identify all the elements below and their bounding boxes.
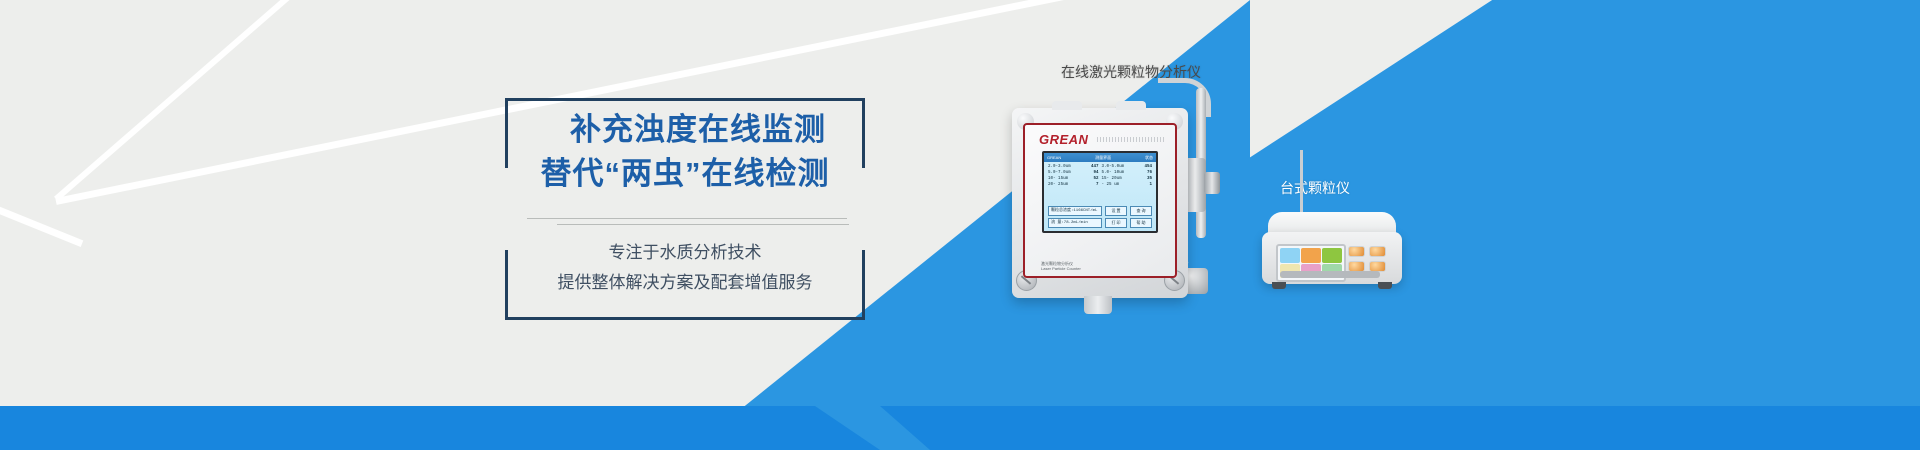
bench-foot-right [1378,282,1392,289]
analyzer-front-panel: GREAN GREAN 测量界面 状态 2.0-3.0um 447 3.0-5.… [1023,123,1177,278]
headline-text: 补充浊度在线监测 替代“两虫”在线检测 [505,108,865,196]
bench-sample-slot [1280,271,1380,278]
table-cell: 454 [1144,165,1152,169]
analyzer-panel-footer: 激光颗粒物分析仪 Laser Particle Counter [1041,261,1081,271]
analyzer-vent-hatch [1097,137,1165,142]
online-laser-particle-analyzer: GREAN GREAN 测量界面 状态 2.0-3.0um 447 3.0-5.… [1012,108,1188,298]
frame-bottom-border [505,317,865,320]
lcd-row-flow: 流 量:78.2mL/min 打 印 帮 助 [1048,218,1152,228]
subtitle-line-2: 提供整体解决方案及配套增值服务 [505,268,865,298]
table-cell: 2.0-3.0um [1048,165,1088,169]
table-cell: 35 [1144,177,1152,181]
headline-line-2: 替代“两虫”在线检测 [505,152,865,196]
bench-tile [1322,248,1342,263]
bench-tile [1280,248,1300,263]
table-cell: 5.0- 10um [1102,171,1142,175]
lcd-title-right: 状态 [1145,155,1153,161]
bench-foot-left [1272,282,1286,289]
table-cell: - 25 um [1102,183,1142,187]
bench-particle-counter [1262,212,1402,294]
lcd-field-flow: 流 量:78.2mL/min [1048,218,1102,228]
bench-keypad[interactable] [1348,246,1386,272]
subtitle-line-1: 专注于水质分析技术 [505,238,865,268]
lcd-button-print[interactable]: 打 印 [1105,218,1127,228]
analyzer-lcd-display[interactable]: GREAN 测量界面 状态 2.0-3.0um 447 3.0-5.0um 45… [1042,151,1158,233]
lcd-button-rows: 颗粒总浓度:1166CNT/mL 设 置 查 询 流 量:78.2mL/min … [1048,206,1152,228]
lcd-particle-table: 2.0-3.0um 447 3.0-5.0um 454 5.0-7.0um 94… [1044,162,1156,187]
lcd-button-query[interactable]: 查 询 [1130,206,1152,216]
headline-card: 补充浊度在线监测 替代“两虫”在线检测 专注于水质分析技术 提供整体解决方案及配… [505,98,865,320]
table-cell: 15- 20um [1102,177,1142,181]
lcd-field-concentration: 颗粒总浓度:1166CNT/mL [1048,206,1102,216]
promo-banner: 补充浊度在线监测 替代“两虫”在线检测 专注于水质分析技术 提供整体解决方案及配… [0,0,1920,450]
bench-tile [1301,248,1321,263]
table-cell: 7 [1091,183,1099,187]
table-cell: 20- 25um [1048,183,1088,187]
bench-body-shell [1262,232,1402,284]
label-bench-analyzer: 台式颗粒仪 [1280,178,1350,198]
table-cell: 5.0-7.0um [1048,171,1088,175]
analyzer-brand-logo: GREAN [1039,132,1088,147]
lcd-row-concentration: 颗粒总浓度:1166CNT/mL 设 置 查 询 [1048,206,1152,216]
subtitle-text: 专注于水质分析技术 提供整体解决方案及配套增值服务 [505,238,865,299]
table-cell: 3.0-5.0um [1102,165,1142,169]
lcd-button-help[interactable]: 帮 助 [1130,218,1152,228]
headline-line-1: 补充浊度在线监测 [505,108,865,152]
frame-top-border [505,98,865,101]
lcd-title-left: GREAN [1047,155,1061,160]
sensor-cap [1204,172,1220,194]
lcd-title-center: 测量界面 [1095,155,1111,161]
table-cell: 76 [1144,171,1152,175]
table-cell: 52 [1091,177,1099,181]
analyzer-top-lug-right [1116,101,1146,110]
bench-key[interactable] [1348,246,1365,257]
table-cell: 94 [1091,171,1099,175]
analyzer-footer-en: Laser Particle Counter [1041,266,1081,271]
lcd-title-bar: GREAN 测量界面 状态 [1044,153,1156,162]
bench-antenna [1300,150,1303,220]
table-cell: 10- 15um [1048,177,1088,181]
table-cell: 1 [1144,183,1152,187]
divider-line-2 [557,224,849,225]
table-cell: 447 [1091,165,1099,169]
analyzer-cable-gland [1084,296,1112,314]
analyzer-top-lug-left [1052,101,1082,110]
divider-group [527,218,847,225]
lcd-button-setup[interactable]: 设 置 [1105,206,1127,216]
divider-line-1 [527,218,847,219]
bench-key[interactable] [1369,246,1386,257]
